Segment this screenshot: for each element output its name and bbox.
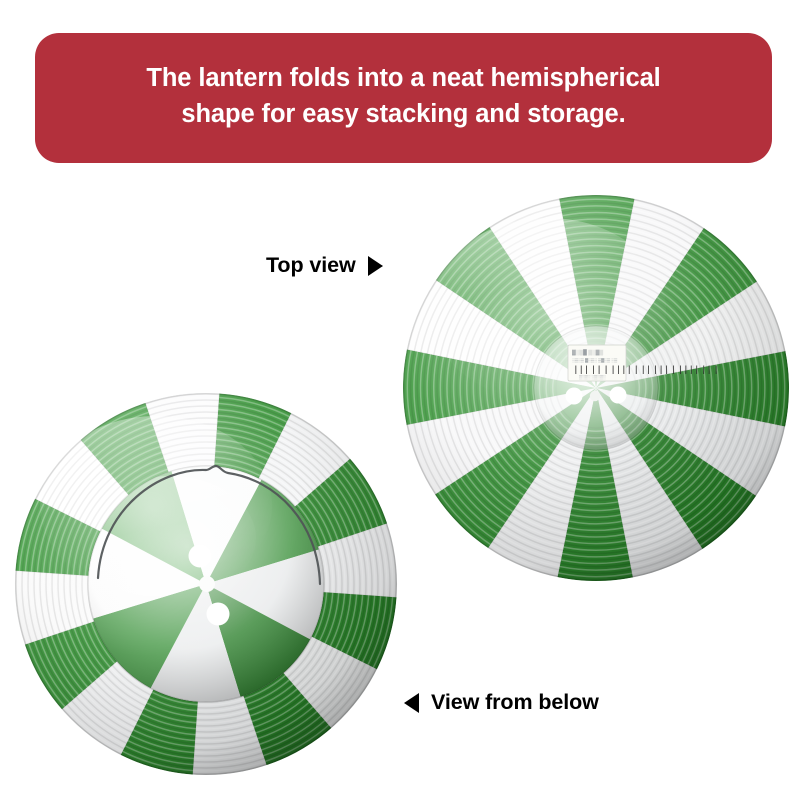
- vent-hole-right: [610, 387, 627, 404]
- callout-top-view-label: Top view: [266, 253, 356, 278]
- sticker-barcode: ||| || | |||| | || ||| | |||| || |: [573, 364, 719, 375]
- caption-text: The lantern folds into a neat hemispheri…: [146, 60, 660, 132]
- sticker-line-1: ▓░▒█ ▒░▓▒: [572, 349, 603, 356]
- callout-bottom-view: View from below: [404, 690, 599, 715]
- hub-shading: [534, 326, 658, 450]
- vent-hole-left: [566, 388, 583, 405]
- lantern-bottom-view: [10, 388, 402, 780]
- callout-top-view: Top view: [266, 253, 383, 278]
- caption-banner: The lantern folds into a neat hemispheri…: [35, 33, 772, 163]
- vent-hole-center: [590, 391, 600, 401]
- disc-gloss: [40, 416, 272, 596]
- callout-bottom-view-label: View from below: [431, 690, 599, 715]
- triangle-left-icon: [404, 693, 419, 713]
- sticker-line-3: ▒░▒░ ░▒░▒░: [579, 375, 606, 380]
- triangle-right-icon: [368, 256, 383, 276]
- lantern-top-view: ▓░▒█ ▒░▓▒ ░▒░▒ ▓░▒░ ▒▓░▒ ░▒ ||| || | |||…: [398, 190, 794, 586]
